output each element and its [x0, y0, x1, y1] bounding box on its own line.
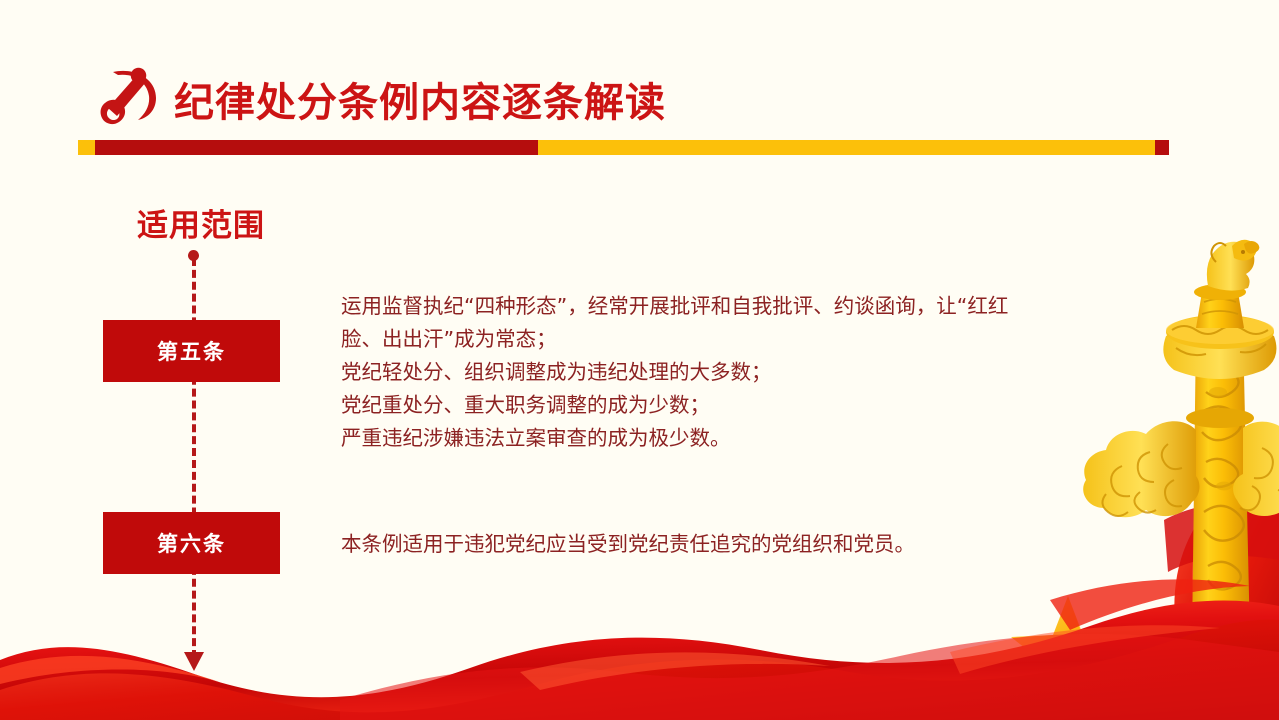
article-chip-5[interactable]: 第五条 [103, 320, 280, 382]
page-title: 纪律处分条例内容逐条解读 [174, 70, 666, 128]
section-heading: 适用范围 [137, 200, 265, 245]
timeline-dashed-line [192, 258, 196, 658]
star-medium [1106, 635, 1176, 701]
five-gold-stars [1011, 596, 1267, 720]
star-small-3 [1235, 664, 1267, 696]
star-small-1 [1168, 685, 1212, 720]
golden-huabiao-column [1083, 240, 1279, 640]
star-large [1011, 596, 1125, 704]
slide-header: 纪律处分条例内容逐条解读 [0, 0, 1279, 170]
star-small-2 [1203, 682, 1241, 719]
red-silk-ribbon-right [1164, 430, 1279, 720]
divider-gold-segment [538, 140, 1156, 155]
huabiao-beast [1207, 240, 1259, 291]
party-hammer-sickle-emblem [96, 63, 166, 125]
divider-red-right-cap [1155, 140, 1169, 155]
divider-gold-left-cap [78, 140, 96, 155]
article-body-6: 本条例适用于违犯党纪应当受到党纪责任追究的党组织和党员。 [341, 528, 1101, 561]
timeline-arrow-icon [184, 652, 204, 671]
article-chip-6[interactable]: 第六条 [103, 512, 280, 574]
slide-canvas: 纪律处分条例内容逐条解读 适用范围 第五条 运用监督执纪“四种形态”，经常开展批… [0, 0, 1279, 720]
article-body-5: 运用监督执纪“四种形态”，经常开展批评和自我批评、约谈函询，让“红红脸、出出汗”… [341, 290, 1041, 455]
divider-red-segment [95, 140, 538, 155]
